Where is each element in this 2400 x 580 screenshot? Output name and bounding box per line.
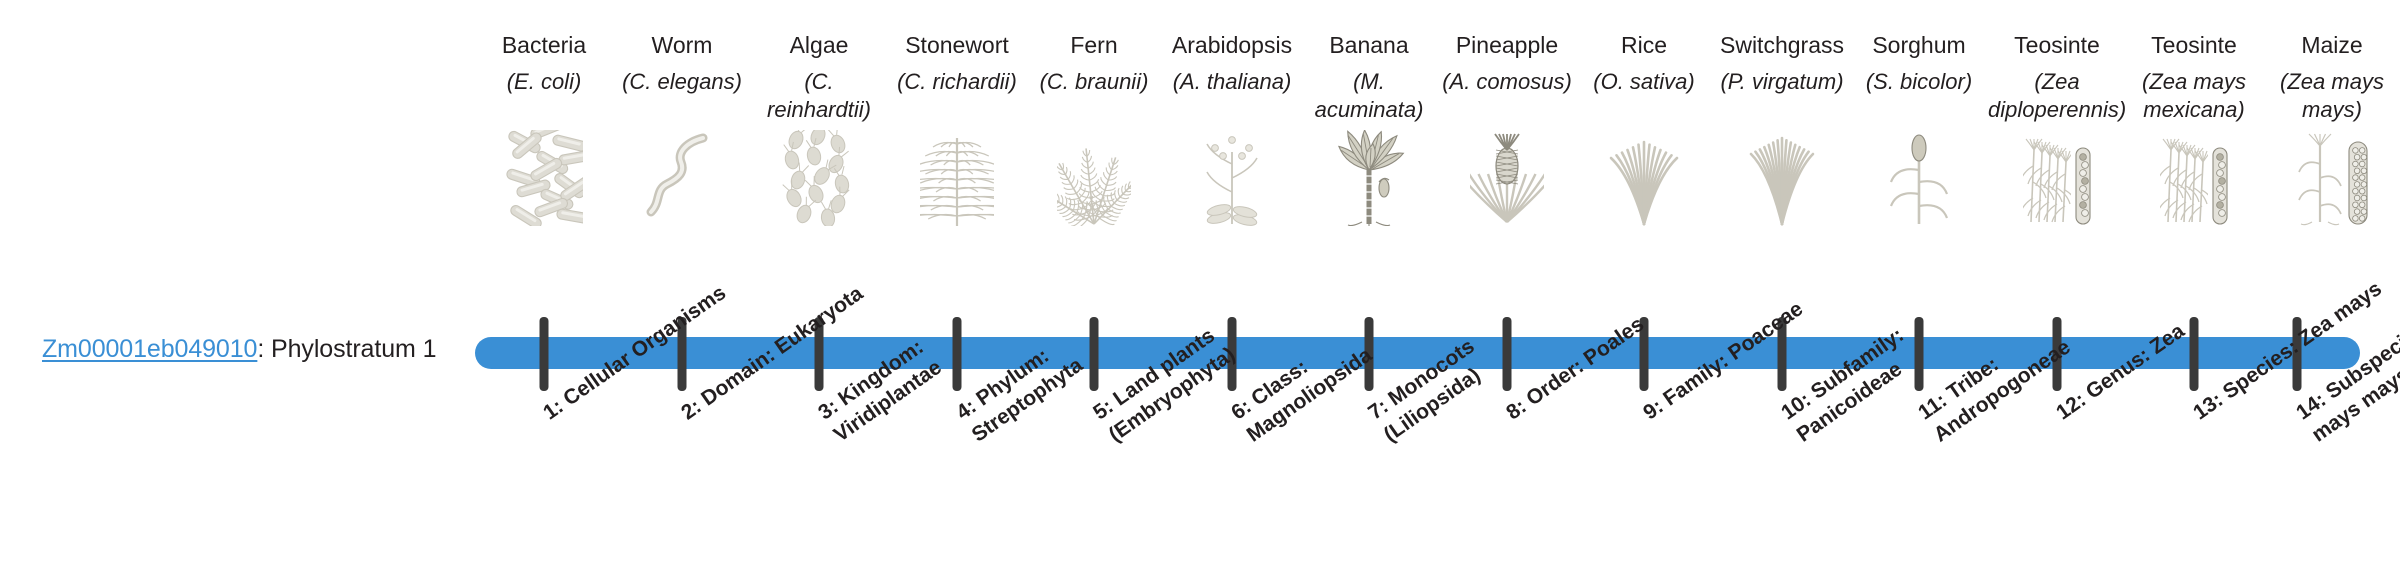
species-column: Teosinte(Zea mays mexicana): [2125, 30, 2263, 226]
species-scientific-name: (M. acuminata): [1300, 68, 1438, 126]
species-scientific-name: (O. sativa): [1575, 68, 1713, 126]
species-column: Algae(C. reinhardtii): [750, 30, 888, 226]
species-column: Pineapple(A. comosus): [1438, 30, 1576, 226]
species-scientific-name: (C. elegans): [613, 68, 751, 126]
species-column: Arabidopsis(A. thaliana): [1163, 30, 1301, 226]
species-scientific-name: (C. braunii): [1025, 68, 1163, 126]
species-scientific-name: (S. bicolor): [1850, 68, 1988, 126]
rice-plant-icon: [1575, 130, 1713, 226]
species-column: Switchgrass(P. virgatum): [1713, 30, 1851, 226]
gene-id-link[interactable]: Zm00001eb049010: [42, 335, 257, 363]
sorghum-plant-icon: [1850, 130, 1988, 226]
species-common-name: Worm: [613, 30, 751, 60]
phylostratum-text: : Phylostratum 1: [257, 335, 436, 363]
arabidopsis-icon: [1163, 130, 1301, 226]
species-column: Fern(C. braunii): [1025, 30, 1163, 226]
species-common-name: Banana: [1300, 30, 1438, 60]
species-common-name: Teosinte: [1988, 30, 2126, 60]
species-column: Stonewort(C. richardii): [888, 30, 1026, 226]
species-common-name: Fern: [1025, 30, 1163, 60]
banana-plant-icon: [1300, 130, 1438, 226]
teosinte-plant-ear-icon: [2125, 130, 2263, 226]
species-column: Maize(Zea mays mays): [2263, 30, 2400, 226]
species-scientific-name: (P. virgatum): [1713, 68, 1851, 126]
species-common-name: Switchgrass: [1713, 30, 1851, 60]
species-common-name: Bacteria: [475, 30, 613, 60]
species-scientific-name: (A. thaliana): [1163, 68, 1301, 126]
species-common-name: Pineapple: [1438, 30, 1576, 60]
species-scientific-name: (A. comosus): [1438, 68, 1576, 126]
nematode-worm-icon: [613, 130, 751, 226]
species-scientific-name: (Zea diploperennis): [1988, 68, 2126, 126]
species-column: Banana(M. acuminata): [1300, 30, 1438, 226]
species-common-name: Stonewort: [888, 30, 1026, 60]
maize-plant-cob-icon: [2263, 130, 2400, 226]
fern-frond-icon: [1025, 130, 1163, 226]
species-common-name: Arabidopsis: [1163, 30, 1301, 60]
species-common-name: Teosinte: [2125, 30, 2263, 60]
species-scientific-name: (Zea mays mexicana): [2125, 68, 2263, 126]
species-common-name: Algae: [750, 30, 888, 60]
species-column: Rice(O. sativa): [1575, 30, 1713, 226]
teosinte-plant-ear-icon: [1988, 130, 2126, 226]
phylostratigraphy-figure: Zm00001eb049010: Phylostratum 1 Bacteria…: [0, 0, 2400, 580]
species-column: Worm(C. elegans): [613, 30, 751, 226]
species-scientific-name: (Zea mays mays): [2263, 68, 2400, 126]
species-scientific-name: (C. richardii): [888, 68, 1026, 126]
algae-cells-icon: [750, 130, 888, 226]
stonewort-icon: [888, 130, 1026, 226]
species-common-name: Rice: [1575, 30, 1713, 60]
gene-phylostratum-caption: Zm00001eb049010: Phylostratum 1: [42, 334, 436, 364]
pineapple-plant-icon: [1438, 130, 1576, 226]
switchgrass-icon: [1713, 130, 1851, 226]
species-common-name: Sorghum: [1850, 30, 1988, 60]
species-scientific-name: (E. coli): [475, 68, 613, 126]
phylostratum-tick[interactable]: [540, 317, 549, 391]
species-column: Bacteria(E. coli): [475, 30, 613, 226]
species-scientific-name: (C. reinhardtii): [750, 68, 888, 126]
species-column: Teosinte(Zea diploperennis): [1988, 30, 2126, 226]
species-common-name: Maize: [2263, 30, 2400, 60]
bacteria-rods-icon: [475, 130, 613, 226]
species-column: Sorghum(S. bicolor): [1850, 30, 1988, 226]
